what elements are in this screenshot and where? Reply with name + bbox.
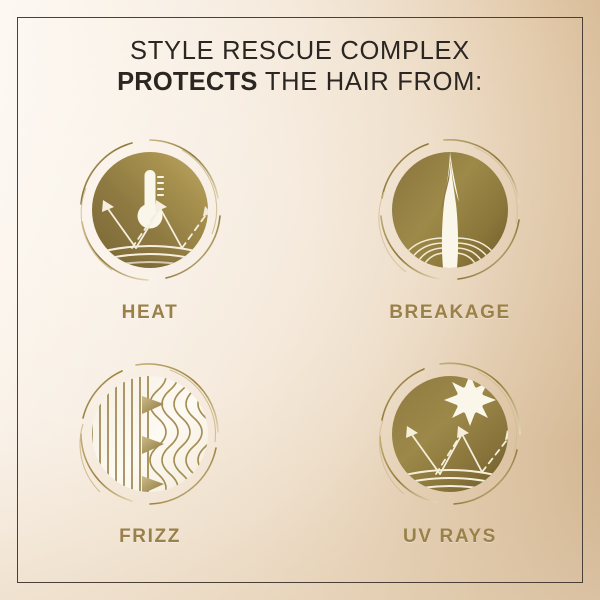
headline-emphasis-protects: PROTECTS xyxy=(117,68,257,96)
benefit-label-heat: HEAT xyxy=(122,302,179,324)
hair-surface-shadow xyxy=(380,492,520,514)
headline-line-2-rest: THE HAIR FROM: xyxy=(258,68,483,96)
headline-line-1: STYLE RESCUE COMPLEX xyxy=(130,37,470,65)
benefit-item-uv-rays: UV RAYS xyxy=(300,354,600,548)
hair-surface-shadow xyxy=(80,260,220,280)
page-title: STYLE RESCUE COMPLEX PROTECTS THE HAIR F… xyxy=(0,36,600,98)
heat-badge xyxy=(70,130,230,290)
benefit-label-uv-rays: UV RAYS xyxy=(403,526,497,548)
hair-base-shadow xyxy=(380,268,520,290)
breakage-badge xyxy=(370,130,530,290)
frizz-badge xyxy=(70,354,230,514)
benefit-item-frizz: FRIZZ xyxy=(0,354,300,548)
benefit-grid: HEAT xyxy=(0,130,600,548)
uv-rays-badge xyxy=(370,354,530,514)
benefit-label-frizz: FRIZZ xyxy=(119,526,181,548)
poster-canvas: STYLE RESCUE COMPLEX PROTECTS THE HAIR F… xyxy=(0,0,600,600)
benefit-label-breakage: BREAKAGE xyxy=(389,302,511,324)
benefit-item-breakage: BREAKAGE xyxy=(300,130,600,324)
benefit-item-heat: HEAT xyxy=(0,130,300,324)
